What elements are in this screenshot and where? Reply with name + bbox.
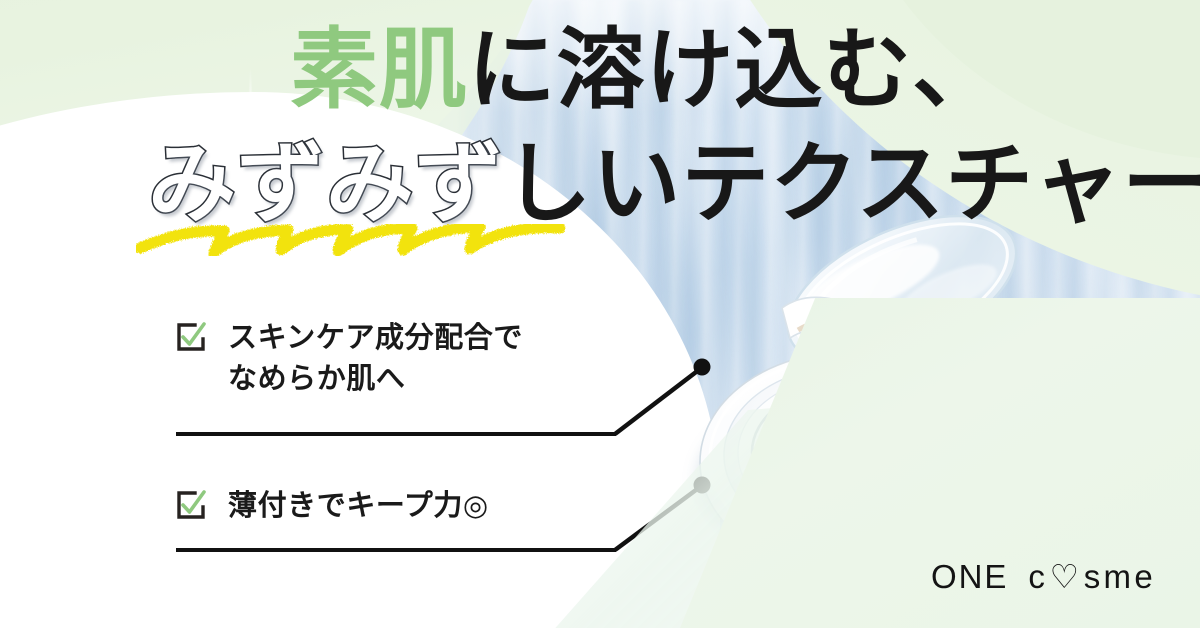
feature-divider-2 bbox=[176, 548, 616, 552]
leader-lines bbox=[0, 0, 1200, 628]
feature-item-1[interactable]: スキンケア成分配合で なめらか肌へ bbox=[176, 318, 796, 400]
feature-item-1-label: スキンケア成分配合で なめらか肌へ bbox=[228, 318, 523, 400]
feature-list: スキンケア成分配合で なめらか肌へ 薄付きでキープ力◎ bbox=[176, 318, 796, 528]
brand-logo[interactable]: ONE c ♡ sme bbox=[931, 557, 1156, 596]
feature-item-2[interactable]: 薄付きでキープ力◎ bbox=[176, 486, 796, 527]
checkbox-checked-icon bbox=[176, 322, 206, 352]
banner-canvas: 素肌に溶け込む、 みずみずしいテクスチャー bbox=[0, 0, 1200, 628]
logo-letters-sme: sme bbox=[1084, 558, 1156, 596]
logo-letter-c: c bbox=[1028, 558, 1048, 596]
feature-divider-1 bbox=[176, 432, 616, 436]
checkbox-checked-icon bbox=[176, 490, 206, 520]
logo-word-cosme: c ♡ sme bbox=[1028, 557, 1156, 596]
logo-word-one: ONE bbox=[931, 558, 1008, 596]
heart-icon: ♡ bbox=[1050, 557, 1083, 596]
feature-item-2-label: 薄付きでキープ力◎ bbox=[228, 486, 489, 527]
